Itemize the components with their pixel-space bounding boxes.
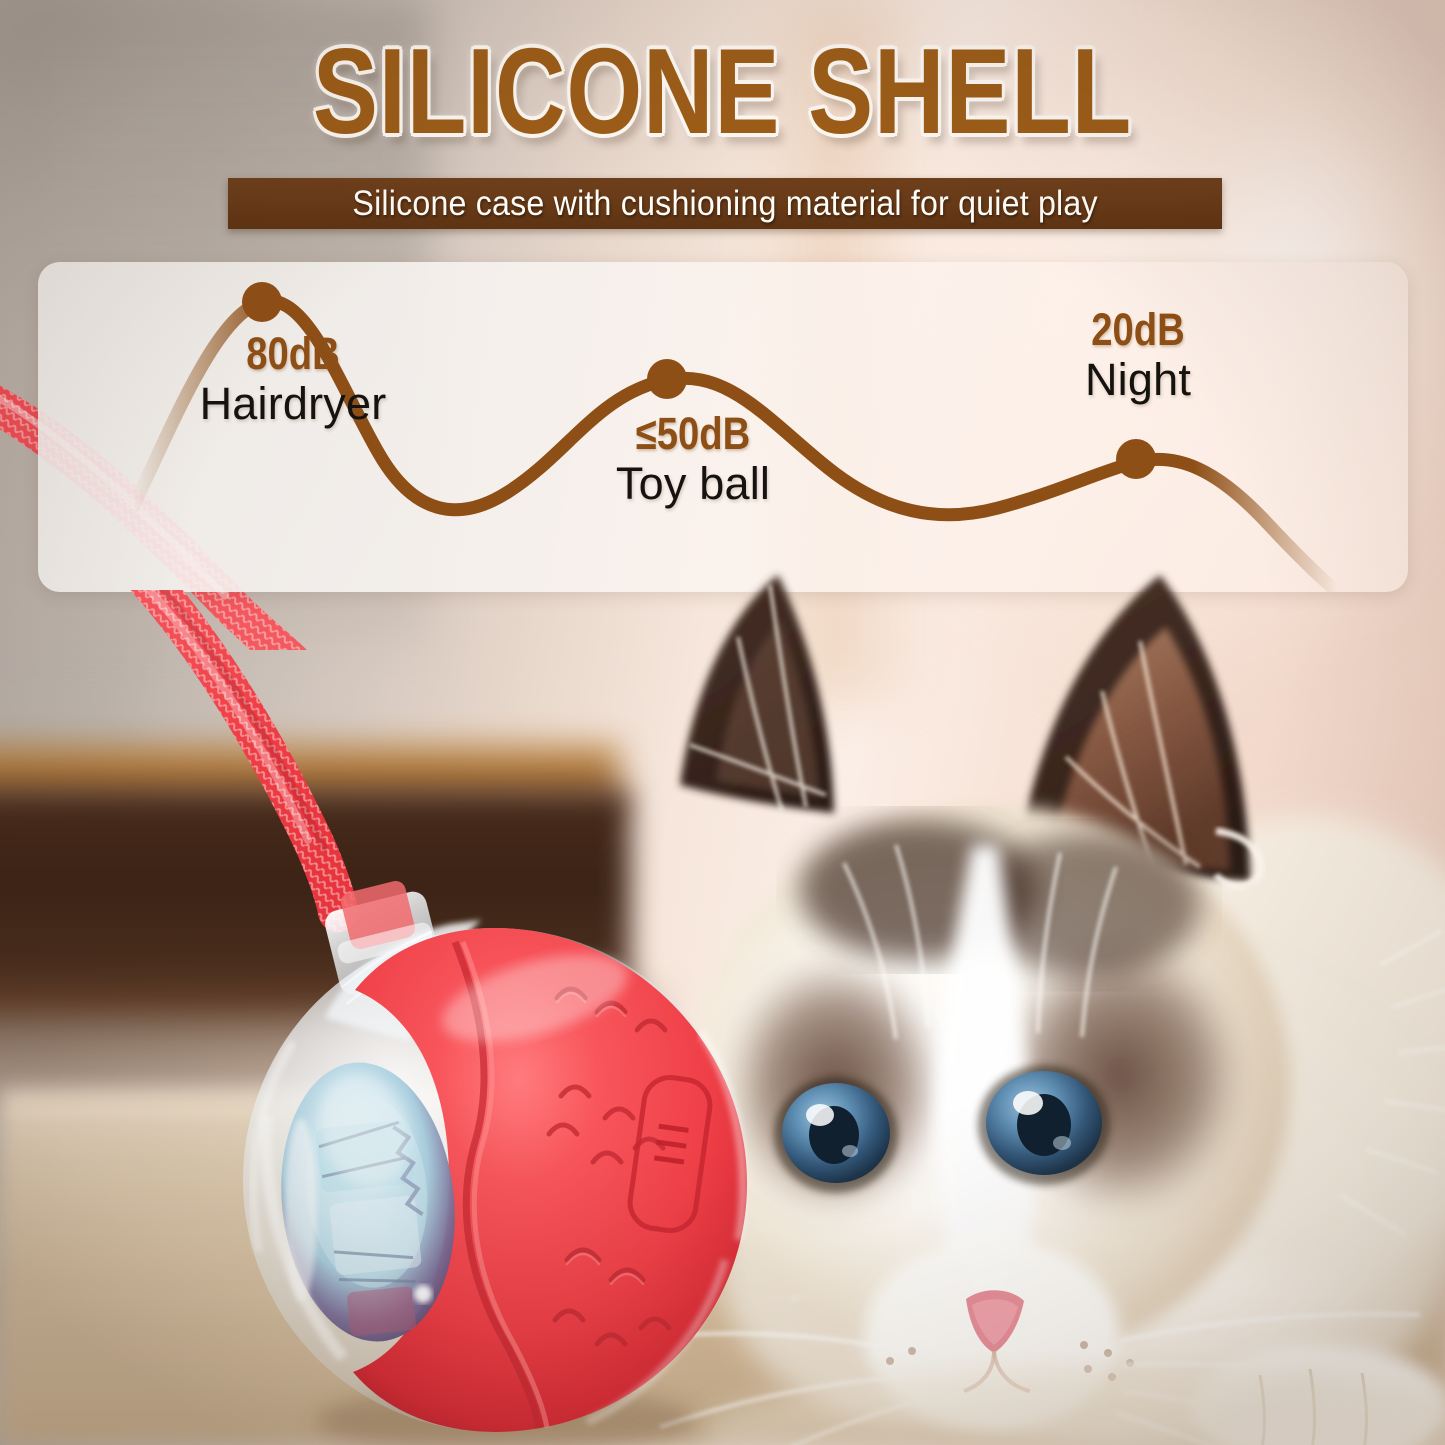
cat-eye-right: [978, 1065, 1110, 1185]
cat-eye-left: [774, 1077, 898, 1193]
chart-label-hairdryer: 80dB Hairdryer: [178, 330, 408, 430]
chart-name-toyball: Toy ball: [568, 458, 818, 510]
chart-label-toyball: ≤50dB Toy ball: [568, 410, 818, 510]
chart-value-toyball: ≤50dB: [587, 410, 800, 458]
chart-value-night: 20dB: [1040, 306, 1236, 354]
data-point-night: [1116, 439, 1156, 479]
chart-name-night: Night: [1023, 354, 1253, 406]
product-infographic: 80dB Hairdryer ≤50dB Toy ball 20dB Night: [0, 0, 1445, 1445]
subtitle-bar: Silicone case with cushioning material f…: [228, 178, 1222, 229]
data-point-toyball: [647, 359, 687, 399]
noise-comparison-panel: 80dB Hairdryer ≤50dB Toy ball 20dB Night: [38, 262, 1408, 592]
page-title: SILICONE SHELL: [145, 30, 1301, 152]
data-point-hairdryer: [242, 282, 282, 322]
chart-value-hairdryer: 80dB: [195, 330, 391, 378]
chart-label-night: 20dB Night: [1023, 306, 1253, 406]
smart-cat-toy-ball: [205, 880, 765, 1445]
chart-name-hairdryer: Hairdryer: [178, 378, 408, 430]
subtitle-text: Silicone case with cushioning material f…: [352, 184, 1097, 224]
